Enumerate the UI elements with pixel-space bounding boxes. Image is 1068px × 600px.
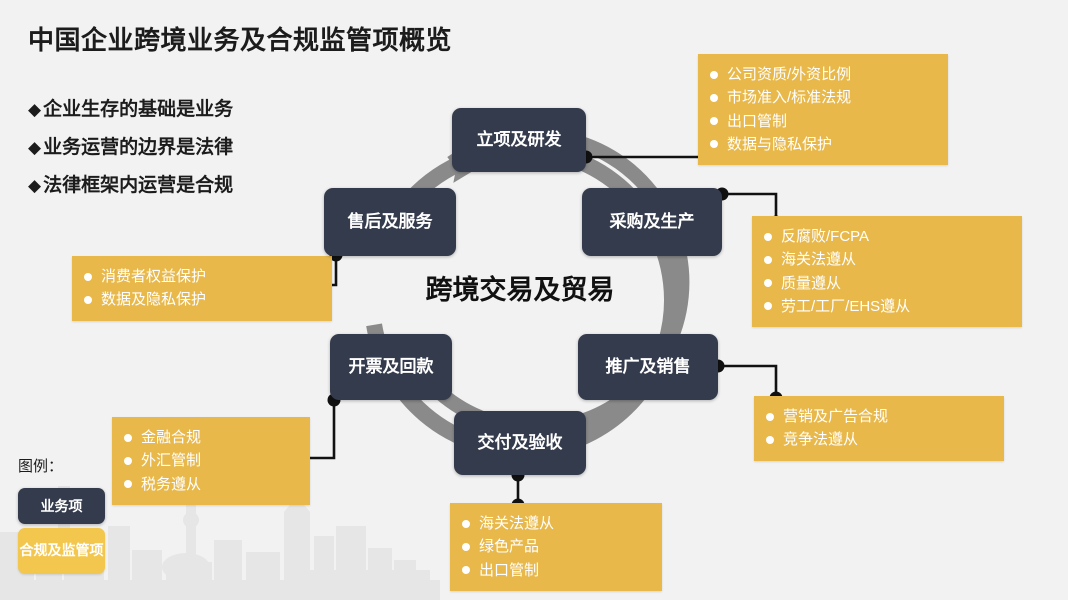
callout-item-text: 公司资质/外资比例 bbox=[727, 63, 851, 86]
bullet-dot-icon bbox=[710, 71, 718, 79]
callout-item: 消费者权益保护 bbox=[84, 265, 322, 288]
stage-label: 开票及回款 bbox=[349, 357, 434, 377]
diamond-bullet-icon: ◆ bbox=[28, 138, 41, 157]
bullet-dot-icon bbox=[710, 117, 718, 125]
bullet-dot-icon bbox=[764, 233, 772, 241]
legend-business-swatch: 业务项 bbox=[18, 488, 105, 524]
bullet-dot-icon bbox=[764, 302, 772, 310]
callout-item: 税务遵从 bbox=[124, 473, 300, 496]
bullet-item-1: ◆业务运营的边界是法律 bbox=[28, 132, 233, 159]
callout-item-text: 出口管制 bbox=[479, 559, 539, 582]
bullet-dot-icon bbox=[124, 480, 132, 488]
stage-label: 推广及销售 bbox=[606, 357, 691, 377]
bullet-item-2: ◆法律框架内运营是合规 bbox=[28, 170, 233, 197]
stage-label: 交付及验收 bbox=[478, 433, 563, 453]
bullet-text: 企业生存的基础是业务 bbox=[43, 99, 233, 120]
legend-business-label: 业务项 bbox=[41, 496, 83, 516]
bullet-dot-icon bbox=[462, 520, 470, 528]
callout-item-text: 绿色产品 bbox=[479, 535, 539, 558]
callout-item-text: 市场准入/标准法规 bbox=[727, 86, 851, 109]
legend-title: 图例： bbox=[18, 455, 63, 476]
page-title: 中国企业跨境业务及合规监管项概览 bbox=[28, 20, 452, 57]
callout-item-text: 劳工/工厂/EHS遵从 bbox=[781, 295, 910, 318]
bullet-item-0: ◆企业生存的基础是业务 bbox=[28, 94, 233, 121]
callout-item-text: 反腐败/FCPA bbox=[781, 225, 869, 248]
callout-deliver: 海关法遵从 绿色产品 出口管制 bbox=[450, 503, 662, 591]
callout-item: 数据及隐私保护 bbox=[84, 288, 322, 311]
bullet-dot-icon bbox=[710, 140, 718, 148]
callout-item: 质量遵从 bbox=[764, 272, 1012, 295]
bullet-dot-icon bbox=[124, 457, 132, 465]
bullet-dot-icon bbox=[710, 94, 718, 102]
callout-item: 出口管制 bbox=[710, 110, 938, 133]
callout-invoice: 金融合规 外汇管制 税务遵从 bbox=[112, 417, 310, 505]
bullet-dot-icon bbox=[766, 413, 774, 421]
callout-item: 反腐败/FCPA bbox=[764, 225, 1012, 248]
callout-item: 数据与隐私保护 bbox=[710, 133, 938, 156]
callout-item-text: 税务遵从 bbox=[141, 473, 201, 496]
callout-item-text: 外汇管制 bbox=[141, 449, 201, 472]
callout-item-text: 数据及隐私保护 bbox=[101, 288, 206, 311]
bullet-dot-icon bbox=[764, 279, 772, 287]
callout-procure: 反腐败/FCPA 海关法遵从 质量遵从 劳工/工厂/EHS遵从 bbox=[752, 216, 1022, 327]
callout-item-text: 海关法遵从 bbox=[781, 248, 856, 271]
stage-label: 采购及生产 bbox=[610, 212, 695, 232]
bullet-dot-icon bbox=[84, 273, 92, 281]
slide-canvas: 中国企业跨境业务及合规监管项概览 ◆企业生存的基础是业务 ◆业务运营的边界是法律… bbox=[0, 0, 1068, 600]
callout-item-text: 消费者权益保护 bbox=[101, 265, 206, 288]
stage-box-invoice[interactable]: 开票及回款 bbox=[330, 334, 452, 400]
stage-label: 售后及服务 bbox=[348, 212, 433, 232]
callout-item-text: 数据与隐私保护 bbox=[727, 133, 832, 156]
callout-item: 金融合规 bbox=[124, 426, 300, 449]
legend-compliance-swatch: 合规及监管项 bbox=[18, 528, 105, 574]
callout-item: 市场准入/标准法规 bbox=[710, 86, 938, 109]
callout-item-text: 出口管制 bbox=[727, 110, 787, 133]
callout-item-text: 金融合规 bbox=[141, 426, 201, 449]
legend-compliance-label: 合规及监管项 bbox=[20, 542, 104, 560]
callout-item: 海关法遵从 bbox=[764, 248, 1012, 271]
callout-promote: 营销及广告合规 竞争法遵从 bbox=[754, 396, 1004, 461]
stage-box-aftersale[interactable]: 售后及服务 bbox=[324, 188, 456, 256]
bullet-dot-icon bbox=[462, 543, 470, 551]
callout-item-text: 质量遵从 bbox=[781, 272, 841, 295]
bullet-dot-icon bbox=[124, 434, 132, 442]
bullet-dot-icon bbox=[462, 566, 470, 574]
callout-aftersale: 消费者权益保护 数据及隐私保护 bbox=[72, 256, 332, 321]
callout-item-text: 海关法遵从 bbox=[479, 512, 554, 535]
callout-item: 出口管制 bbox=[462, 559, 652, 582]
stage-box-procure[interactable]: 采购及生产 bbox=[582, 188, 722, 256]
callout-item-text: 营销及广告合规 bbox=[783, 405, 888, 428]
diamond-bullet-icon: ◆ bbox=[28, 100, 41, 119]
stage-box-rd[interactable]: 立项及研发 bbox=[452, 108, 586, 172]
callout-item: 竞争法遵从 bbox=[766, 428, 994, 451]
callout-item-text: 竞争法遵从 bbox=[783, 428, 858, 451]
callout-item: 海关法遵从 bbox=[462, 512, 652, 535]
callout-rd: 公司资质/外资比例 市场准入/标准法规 出口管制 数据与隐私保护 bbox=[698, 54, 948, 165]
stage-label: 立项及研发 bbox=[477, 130, 562, 150]
cycle-center-label: 跨境交易及贸易 bbox=[370, 268, 670, 307]
bullet-dot-icon bbox=[766, 436, 774, 444]
callout-item: 营销及广告合规 bbox=[766, 405, 994, 428]
stage-box-deliver[interactable]: 交付及验收 bbox=[454, 411, 586, 475]
callout-item: 劳工/工厂/EHS遵从 bbox=[764, 295, 1012, 318]
bullet-dot-icon bbox=[764, 256, 772, 264]
callout-item: 公司资质/外资比例 bbox=[710, 63, 938, 86]
callout-item: 绿色产品 bbox=[462, 535, 652, 558]
diamond-bullet-icon: ◆ bbox=[28, 176, 41, 195]
bullet-dot-icon bbox=[84, 296, 92, 304]
stage-box-promote[interactable]: 推广及销售 bbox=[578, 334, 718, 400]
callout-item: 外汇管制 bbox=[124, 449, 300, 472]
bullet-text: 法律框架内运营是合规 bbox=[43, 175, 233, 196]
bullet-text: 业务运营的边界是法律 bbox=[43, 137, 233, 158]
